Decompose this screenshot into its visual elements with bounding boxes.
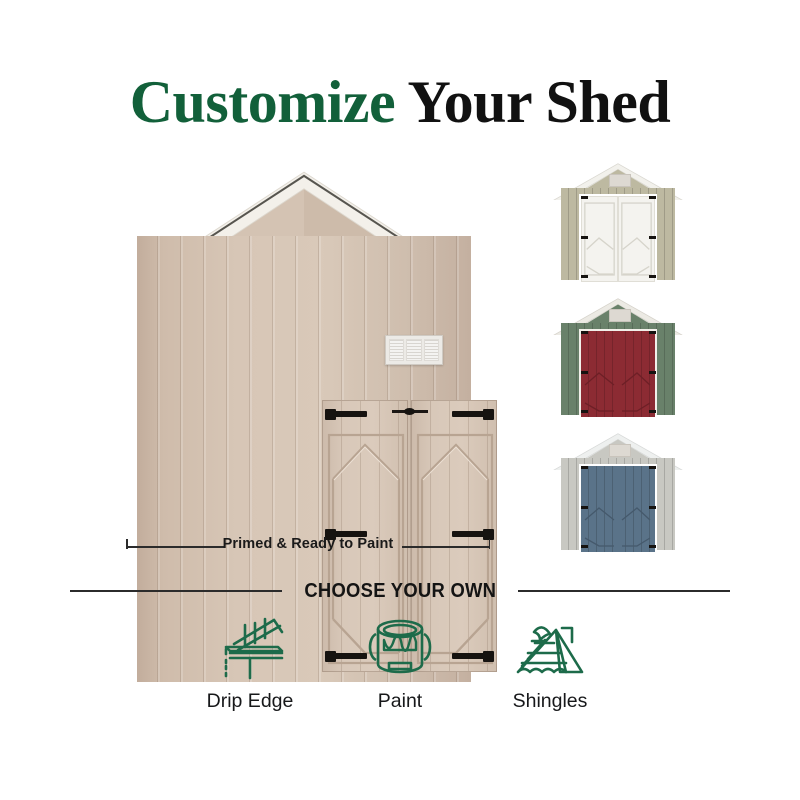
thumb-door-bracing [618,331,655,417]
hero-shed-image [104,150,504,540]
thumb-gable-vent [609,174,631,187]
primed-caption-dimension-line: Primed & Ready to Paint [126,536,490,558]
door-hinge-strap [329,411,367,417]
shingles-icon [480,612,620,686]
feature-drip-edge[interactable]: Drip Edge [180,612,320,713]
color-option-thumbnails [548,158,688,558]
thumb-hinge [581,196,588,199]
thumb-hinge [649,506,656,509]
page-title-rest: Your Shed [407,69,670,135]
door-hinge-strap [452,411,490,417]
thumb-hinge [649,196,656,199]
thumb-hinge [581,545,588,548]
thumb-door-frame [579,194,657,280]
thumb-door-left [581,466,618,552]
vent-louver [424,339,439,361]
thumbnail-green-shed-red-doors[interactable] [548,293,688,415]
thumb-gable-vent [609,444,631,457]
thumb-door-bracing [581,466,618,552]
thumb-hinge [581,506,588,509]
thumb-door-left [581,331,618,417]
thumbnail-sage-shed-white-doors[interactable] [548,158,688,280]
thumb-door-frame [579,329,657,415]
thumb-hinge [649,275,656,278]
marketing-graphic: Customize Your Shed [0,0,800,800]
thumb-door-left [581,196,618,282]
thumb-hinge [649,466,656,469]
feature-list: Drip Edge Paint [180,612,620,732]
thumb-hinge [581,331,588,334]
feature-label: Paint [330,690,470,713]
thumb-hinge [649,331,656,334]
thumb-door-bracing [581,331,618,417]
thumb-door-right [618,331,655,417]
thumb-door-frame [579,464,657,550]
section-divider: CHOOSE YOUR OWN [70,578,730,604]
thumb-door-right [618,196,655,282]
feature-paint[interactable]: Paint [330,612,470,713]
thumb-door-bracing [582,197,617,281]
page-title: Customize Your Shed [0,72,800,132]
divider-rule-left [70,590,282,592]
paint-bucket-icon [330,612,470,686]
thumb-hinge [649,371,656,374]
gable-vent [385,335,443,365]
divider-rule-right [518,590,730,592]
thumb-door-right [618,466,655,552]
thumb-hinge [581,275,588,278]
feature-label: Shingles [480,690,620,713]
thumb-hinge [649,545,656,548]
section-heading: CHOOSE YOUR OWN [304,580,496,603]
vent-louver [389,339,404,361]
feature-shingles[interactable]: Shingles [480,612,620,713]
thumb-hinge [581,410,588,413]
thumbnail-gray-shed-blue-doors[interactable] [548,428,688,550]
thumb-hinge [649,236,656,239]
page-title-highlight: Customize [130,69,395,135]
drip-edge-icon [180,612,320,686]
thumb-gable-vent [609,309,631,322]
vent-louver [406,339,421,361]
feature-label: Drip Edge [180,690,320,713]
door-latch-handle [404,408,415,415]
primed-caption-label: Primed & Ready to Paint [126,536,490,552]
thumb-door-bracing [618,466,655,552]
thumb-door-bracing [619,197,654,281]
thumb-hinge [581,466,588,469]
thumb-hinge [581,236,588,239]
thumb-hinge [649,410,656,413]
thumb-hinge [581,371,588,374]
